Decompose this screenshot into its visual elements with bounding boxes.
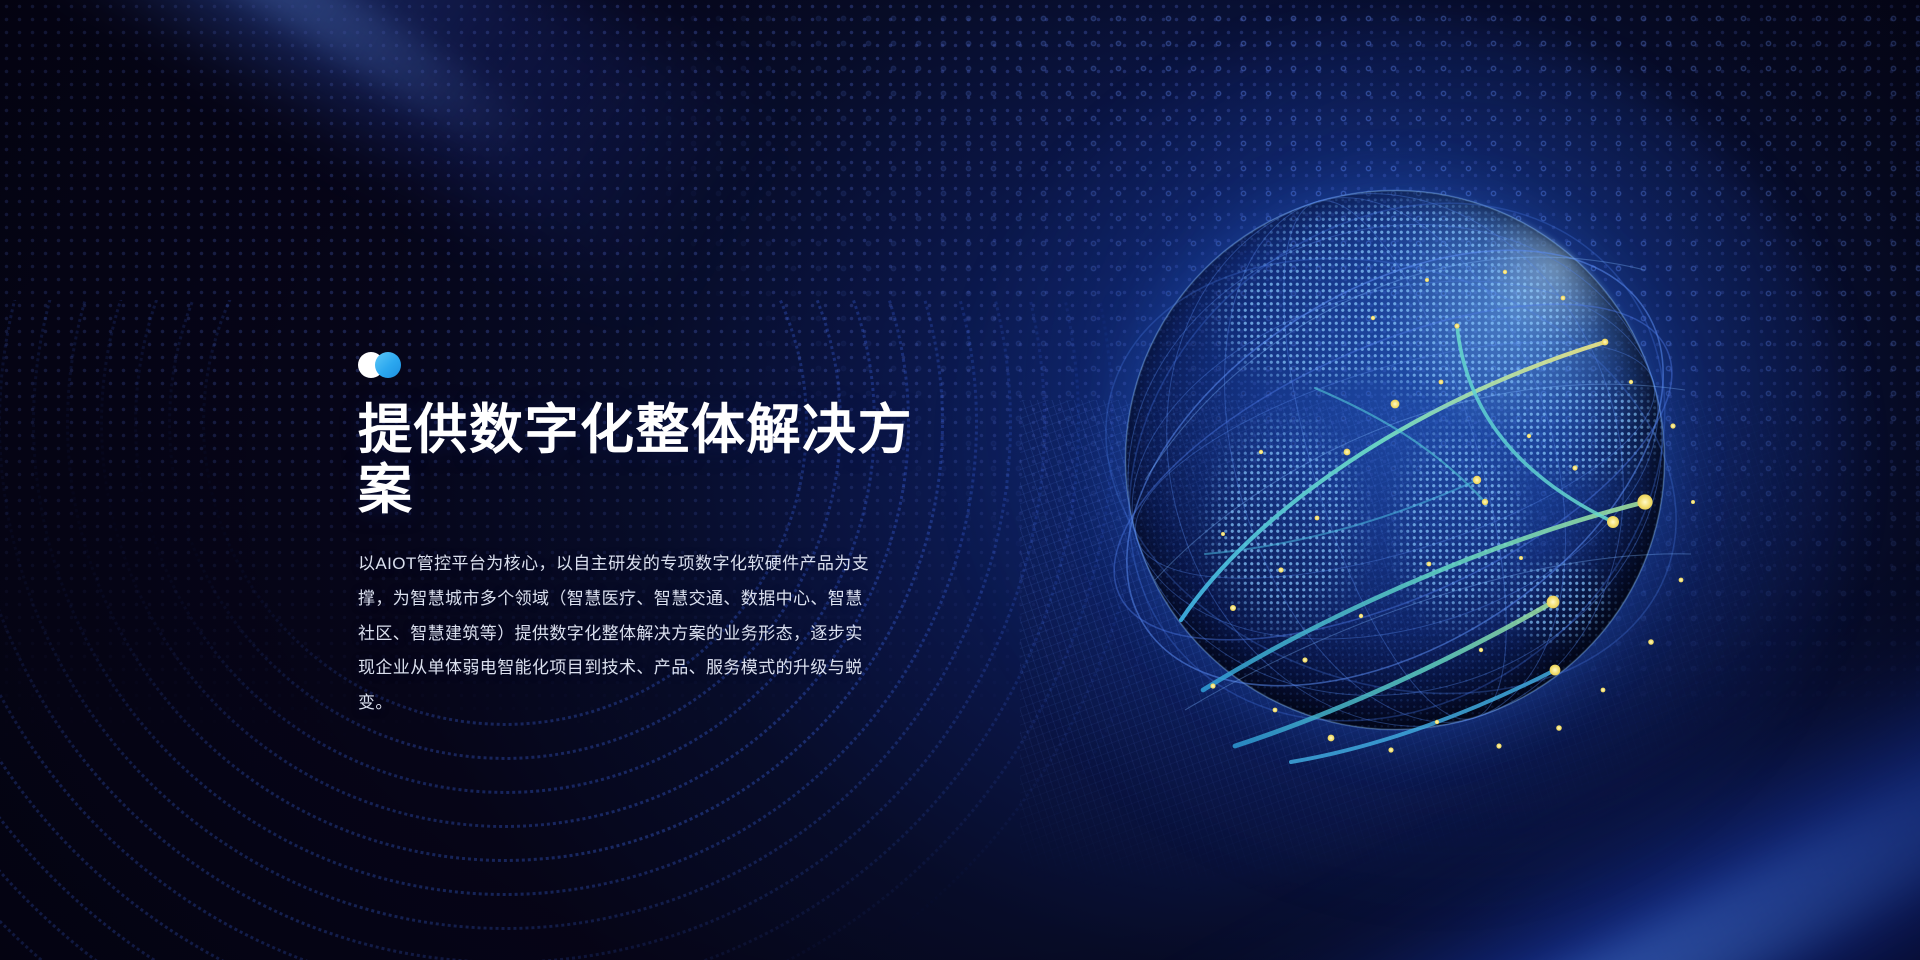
digital-globe-network (1085, 150, 1725, 790)
hero-banner: 提供数字化整体解决方案 以AIOT管控平台为核心，以自主研发的专项数字化软硬件产… (0, 0, 1920, 960)
hero-content: 提供数字化整体解决方案 以AIOT管控平台为核心，以自主研发的专项数字化软硬件产… (358, 352, 918, 721)
globe-network-lines (1085, 150, 1725, 790)
logo-dots-mark (358, 352, 416, 378)
page-description: 以AIOT管控平台为核心，以自主研发的专项数字化软硬件产品为支撑，为智慧城市多个… (358, 547, 878, 721)
cyan-circle-icon (375, 352, 401, 378)
page-title: 提供数字化整体解决方案 (358, 400, 918, 521)
